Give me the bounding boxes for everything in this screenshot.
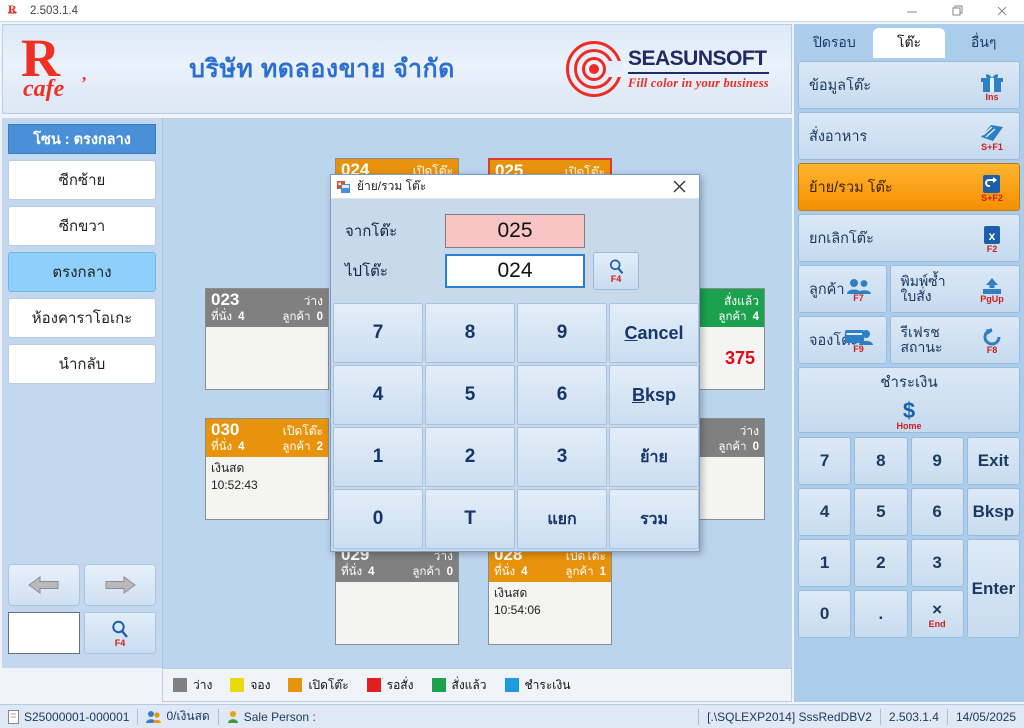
legend-label: เปิดโต๊ะ — [308, 676, 348, 695]
from-table-field: 025 — [445, 214, 585, 248]
keypad-key-label: 0 — [820, 604, 829, 624]
window-title: 2.503.1.4 — [30, 5, 78, 17]
reprint-order-button[interactable]: พิมพ์ซ้ำ ใบสั่ง PgUp — [890, 265, 1021, 313]
table-card-header: 030เปิดโต๊ะที่นั่ง4ลูกค้า2 — [206, 419, 328, 457]
dialog-key-label: ย้าย — [640, 445, 668, 470]
window-controls — [889, 0, 1024, 22]
keypad-key-9[interactable]: 9 — [911, 437, 964, 485]
refresh-label: รีเฟรช สถานะ — [901, 325, 943, 355]
reprint-label: พิมพ์ซ้ำ ใบสั่ง — [901, 274, 946, 304]
dialog-key-label: 7 — [373, 322, 384, 344]
company-name: บริษัท ทดลองขาย จำกัด — [78, 49, 566, 89]
customer-label: ลูกค้า — [282, 310, 310, 325]
legend-item: ว่าง — [173, 676, 212, 695]
dialog-key-label: Bksp — [632, 385, 676, 406]
zone-panel: โซน : ตรงกลาง ซีกซ้ายซีกขวาตรงกลางห้องคา… — [2, 118, 162, 668]
app-banner: R cafe ’ บริษัท ทดลองขาย จำกัด SEASUNSOF… — [2, 24, 792, 114]
reserve-icon: F9 — [840, 321, 878, 361]
sale-person-label: Sale Person : — [244, 710, 316, 724]
zone-item-label: ตรงกลาง — [52, 260, 111, 284]
customer-cell: 0/เงินสด — [138, 705, 217, 728]
tab-1[interactable]: โต๊ะ — [873, 28, 946, 58]
customer-label: ลูกค้า — [718, 440, 746, 455]
zone-search-row: F4 — [8, 612, 156, 654]
right-action-panel: ปิดรอบโต๊ะอื่นๆ ข้อมูลโต๊ะInsสั่งอาหารS+… — [794, 24, 1024, 702]
vendor-name: SEASUNSOFT — [628, 47, 769, 74]
table-number: 030 — [211, 420, 239, 439]
keypad-key-label: 6 — [932, 502, 941, 522]
keypad-key-3[interactable]: 3 — [911, 539, 964, 587]
legend-item: จอง — [230, 676, 270, 695]
table-open-time: 10:54:06 — [494, 602, 606, 619]
legend-item: ชำระเงิน — [505, 676, 571, 695]
customer-label: ลูกค้า — [412, 565, 440, 580]
keypad-key-label: 2 — [876, 553, 885, 573]
customer-count: 0 — [317, 310, 323, 325]
legend-label: จอง — [250, 676, 270, 695]
document-number-cell: S25000001-000001 — [0, 705, 137, 728]
legend-item: รอสั่ง — [367, 676, 414, 695]
dialog-key-label: รวม — [640, 507, 668, 532]
legend-label: รอสั่ง — [387, 676, 414, 695]
seat-count: 4 — [238, 440, 244, 455]
zone-item-label: นำกลับ — [59, 352, 105, 376]
reserve-table-button[interactable]: จองโต๊ะ F9 — [798, 316, 887, 364]
action-button-1[interactable]: สั่งอาหารS+F1 — [798, 112, 1020, 160]
from-table-row: จากโต๊ะ 025 — [345, 211, 685, 251]
order-food-icon: S+F1 — [973, 117, 1011, 157]
search-button[interactable]: F4 — [84, 612, 156, 654]
keypad-key-[interactable]: ×End — [911, 590, 964, 638]
keypad-key-label: Exit — [978, 451, 1009, 471]
vendor-logo: SEASUNSOFT Fill color in your business — [566, 41, 791, 97]
customer-label: ลูกค้า — [282, 440, 310, 455]
action-label: สั่งอาหาร — [809, 125, 867, 148]
keypad-key-label: 5 — [876, 502, 885, 522]
pay-shortcut: Home — [896, 422, 921, 431]
status-right: [.\SQLEXP2014] SssRedDBV2 2.503.1.4 14/0… — [698, 705, 1024, 728]
pay-button[interactable]: ชำระเงิน $ Home — [798, 367, 1020, 433]
dialog-close-icon[interactable] — [659, 175, 699, 199]
customers-small-icon — [146, 710, 161, 724]
tab-2[interactable]: อื่นๆ — [947, 28, 1020, 58]
keypad-key-6[interactable]: 6 — [911, 488, 964, 536]
move-merge-icon: S+F2 — [973, 168, 1011, 208]
form-icon — [337, 180, 351, 194]
action-shortcut: S+F1 — [981, 143, 1003, 152]
keypad-key-8[interactable]: 8 — [854, 437, 907, 485]
table-open-time: 10:52:43 — [211, 477, 323, 494]
numeric-keypad: 789Exit456Bksp123Enter0.×End — [798, 437, 1020, 638]
action-button-2[interactable]: ย้าย/รวม โต๊ะS+F2 — [798, 163, 1020, 211]
svg-text:x: x — [989, 229, 996, 243]
reserve-shortcut: F9 — [853, 345, 864, 354]
status-legend: ว่างจองเปิดโต๊ะรอสั่งสั่งแล้วชำระเงิน — [162, 668, 792, 702]
action-button-list: ข้อมูลโต๊ะInsสั่งอาหารS+F1ย้าย/รวม โต๊ะS… — [794, 61, 1024, 262]
customers-shortcut: F7 — [853, 294, 864, 303]
keypad-key-4[interactable]: 4 — [798, 488, 851, 536]
zone-item-1[interactable]: ซีกขวา — [8, 206, 156, 246]
seat-label: ที่นั่ง — [341, 565, 362, 580]
table-card[interactable]: 030เปิดโต๊ะที่นั่ง4ลูกค้า2เงินสด10:52:43 — [205, 418, 329, 520]
dialog-search-shortcut: F4 — [611, 275, 622, 284]
cancel-table-icon: xF2 — [973, 219, 1011, 259]
customer-count: 1 — [600, 565, 606, 580]
keypad-key-shortcut: End — [929, 620, 946, 629]
dialog-key-label: 1 — [373, 446, 384, 468]
logo-word: cafe — [23, 77, 64, 101]
customer-count: 4 — [753, 310, 759, 325]
dialog-key-label: แยก — [547, 507, 576, 532]
dialog-search-button[interactable]: F4 — [593, 252, 639, 290]
dialog-title: ย้าย/รวม โต๊ะ — [357, 177, 426, 196]
target-circles-icon — [566, 41, 622, 97]
customer-label: ลูกค้า — [565, 565, 593, 580]
customer-label: ลูกค้า — [718, 310, 746, 325]
document-icon — [8, 710, 19, 724]
customer-count: 0 — [447, 565, 453, 580]
zone-pager — [8, 564, 156, 606]
zone-item-label: ซีกซ้าย — [59, 168, 106, 192]
zone-header: โซน : ตรงกลาง — [8, 124, 156, 154]
table-card-body: เงินสด10:52:43 — [206, 457, 328, 497]
dialog-key-1[interactable]: 1 — [333, 427, 423, 487]
legend-item: สั่งแล้ว — [432, 676, 487, 695]
keypad-key-label: 4 — [820, 502, 829, 522]
legend-label: ว่าง — [193, 676, 212, 695]
table-card[interactable]: 029ว่างที่นั่ง4ลูกค้า0 — [335, 543, 459, 645]
table-state: ว่าง — [740, 423, 759, 440]
table-payment-type: เงินสด — [211, 460, 323, 477]
keypad-key-label: 1 — [820, 553, 829, 573]
table-card-header: 023ว่างที่นั่ง4ลูกค้า0 — [206, 289, 328, 327]
action-label: ยกเลิกโต๊ะ — [809, 227, 874, 250]
minimize-icon[interactable] — [889, 0, 934, 22]
legend-swatch — [367, 678, 381, 692]
dialog-key-T[interactable]: T — [425, 489, 515, 549]
rcafe-icon: Rcafe — [6, 4, 22, 18]
action-shortcut: S+F2 — [981, 194, 1003, 203]
table-card-body: เงินสด10:54:06 — [489, 582, 611, 622]
tab-bar: ปิดรอบโต๊ะอื่นๆ — [794, 24, 1024, 58]
dialog-key-label: T — [464, 508, 476, 530]
action-button-3[interactable]: ยกเลิกโต๊ะxF2 — [798, 214, 1020, 262]
zone-item-3[interactable]: ห้องคาราโอเกะ — [8, 298, 156, 338]
legend-label: ชำระเงิน — [525, 676, 571, 695]
customers-icon: F7 — [840, 270, 878, 310]
reprint-shortcut: PgUp — [980, 295, 1004, 304]
window-titlebar: Rcafe 2.503.1.4 — [0, 0, 1024, 22]
status-bar: S25000001-000001 0/เงินสด Sale Person : … — [0, 704, 1024, 728]
keypad-key-2[interactable]: 2 — [854, 539, 907, 587]
dialog-key-label: 6 — [557, 384, 568, 406]
dialog-key-4[interactable]: 4 — [333, 365, 423, 425]
dialog-titlebar: ย้าย/รวม โต๊ะ — [331, 175, 699, 199]
dialog-key-2[interactable]: 2 — [425, 427, 515, 487]
refresh-status-button[interactable]: รีเฟรช สถานะ F8 — [890, 316, 1021, 364]
dialog-key-0[interactable]: 0 — [333, 489, 423, 549]
dialog-key-label: 8 — [465, 322, 476, 344]
dialog-key-label: 3 — [557, 446, 568, 468]
dialog-keypad: 789Cancel456Bksp123ย้าย0Tแยกรวม — [333, 303, 699, 549]
keypad-key-[interactable]: . — [854, 590, 907, 638]
move-merge-dialog: ย้าย/รวม โต๊ะ จากโต๊ะ 025 ไปโต๊ะ 024 F4 … — [330, 174, 700, 552]
table-payment-type: เงินสด — [494, 585, 606, 602]
dialog-key-label: 0 — [373, 508, 384, 530]
seat-label: ที่นั่ง — [211, 310, 232, 325]
reprint-icon: PgUp — [973, 270, 1011, 310]
to-table-row: ไปโต๊ะ 024 F4 — [345, 251, 685, 291]
dollar-icon: $ — [903, 400, 915, 422]
to-table-field[interactable]: 024 — [445, 254, 585, 288]
action-row-1: ลูกค้า F7 พิมพ์ซ้ำ ใบสั่ง PgUp — [798, 265, 1020, 313]
person-icon — [227, 710, 239, 724]
server-info: [.\SQLEXP2014] SssRedDBV2 — [699, 705, 880, 728]
search-shortcut: F4 — [115, 639, 126, 648]
action-shortcut: Ins — [985, 93, 998, 102]
keypad-key-7[interactable]: 7 — [798, 437, 851, 485]
action-label: ข้อมูลโต๊ะ — [809, 74, 871, 97]
keypad-key-5[interactable]: 5 — [854, 488, 907, 536]
zone-item-2[interactable]: ตรงกลาง — [8, 252, 156, 292]
seat-count: 4 — [521, 565, 527, 580]
customer-count: 0 — [753, 440, 759, 455]
dialog-key-label: Cancel — [624, 323, 683, 344]
reprint-line1: พิมพ์ซ้ำ — [901, 273, 946, 289]
legend-swatch — [288, 678, 302, 692]
refresh-icon: F8 — [973, 321, 1011, 361]
customer-count: 2 — [317, 440, 323, 455]
keypad-key-label: . — [879, 604, 884, 624]
rcafe-logo: R cafe ’ — [3, 25, 118, 113]
table-card[interactable]: 023ว่างที่นั่ง4ลูกค้า0 — [205, 288, 329, 390]
zone-item-label: ห้องคาราโอเกะ — [32, 306, 133, 330]
action-row-2: จองโต๊ะ F9 รีเฟรช สถานะ F8 — [798, 316, 1020, 364]
table-state: ว่าง — [304, 293, 323, 310]
zone-item-4[interactable]: นำกลับ — [8, 344, 156, 384]
refresh-line1: รีเฟรช — [901, 324, 940, 340]
zone-list: ซีกซ้ายซีกขวาตรงกลางห้องคาราโอเกะนำกลับ — [2, 160, 162, 384]
table-card[interactable]: 028เปิดโต๊ะที่นั่ง4ลูกค้า1เงินสด10:54:06 — [488, 543, 612, 645]
dialog-key-9[interactable]: 9 — [517, 303, 607, 363]
refresh-line2: สถานะ — [901, 339, 943, 355]
legend-swatch — [230, 678, 244, 692]
document-number: S25000001-000001 — [24, 710, 129, 724]
customer-count: 0/เงินสด — [166, 707, 209, 726]
keypad-key-label: × — [932, 600, 942, 620]
dialog-key-5[interactable]: 5 — [425, 365, 515, 425]
keypad-key-label: Bksp — [973, 502, 1015, 522]
keypad-key-label: 3 — [932, 553, 941, 573]
keypad-key-label: Enter — [972, 579, 1015, 599]
dialog-key-15[interactable]: รวม — [609, 489, 699, 549]
pay-label: ชำระเงิน — [880, 370, 937, 394]
keypad-key-label: 7 — [820, 451, 829, 471]
keypad-key-1[interactable]: 1 — [798, 539, 851, 587]
action-shortcut: F2 — [987, 245, 998, 254]
app-window: Rcafe 2.503.1.4 R cafe ’ บริษัท ทดลองขาย… — [0, 0, 1024, 728]
dialog-key-Cancel[interactable]: Cancel — [609, 303, 699, 363]
seat-count: 4 — [238, 310, 244, 325]
action-label: ย้าย/รวม โต๊ะ — [809, 176, 893, 199]
maximize-icon[interactable] — [934, 0, 979, 22]
legend-swatch — [505, 678, 519, 692]
dialog-key-7[interactable]: 7 — [333, 303, 423, 363]
sale-person-cell: Sale Person : — [219, 705, 324, 728]
dialog-key-3[interactable]: 3 — [517, 427, 607, 487]
seat-label: ที่นั่ง — [211, 440, 232, 455]
keypad-key-Bksp[interactable]: Bksp — [967, 488, 1020, 536]
keypad-key-0[interactable]: 0 — [798, 590, 851, 638]
dialog-key-14[interactable]: แยก — [517, 489, 607, 549]
dialog-key-label: 5 — [465, 384, 476, 406]
date-info: 14/05/2025 — [948, 705, 1024, 728]
vendor-tagline: Fill color in your business — [628, 76, 769, 91]
zone-item-0[interactable]: ซีกซ้าย — [8, 160, 156, 200]
keypad-key-label: 8 — [876, 451, 885, 471]
to-table-label: ไปโต๊ะ — [345, 259, 445, 283]
gift-icon: Ins — [973, 66, 1011, 106]
action-button-0[interactable]: ข้อมูลโต๊ะIns — [798, 61, 1020, 109]
legend-swatch — [432, 678, 446, 692]
zone-item-label: ซีกขวา — [59, 214, 105, 238]
keypad-key-Enter[interactable]: Enter — [967, 539, 1020, 638]
legend-swatch — [173, 678, 187, 692]
arrow-left-icon[interactable] — [8, 564, 80, 606]
keypad-key-Exit[interactable]: Exit — [967, 437, 1020, 485]
dialog-key-label: 9 — [557, 322, 568, 344]
arrow-right-icon[interactable] — [84, 564, 156, 606]
seat-count: 4 — [368, 565, 374, 580]
dialog-key-8[interactable]: 8 — [425, 303, 515, 363]
dialog-key-6[interactable]: 6 — [517, 365, 607, 425]
table-card-body — [206, 327, 328, 333]
table-state: เปิดโต๊ะ — [283, 423, 323, 440]
dialog-key-11[interactable]: ย้าย — [609, 427, 699, 487]
dialog-body: จากโต๊ะ 025 ไปโต๊ะ 024 F4 — [331, 199, 699, 291]
refresh-shortcut: F8 — [987, 346, 998, 355]
legend-item: เปิดโต๊ะ — [288, 676, 348, 695]
dialog-key-label: 4 — [373, 384, 384, 406]
tab-0[interactable]: ปิดรอบ — [798, 28, 871, 58]
logo-apostrophe: ’ — [81, 73, 87, 94]
reprint-line2: ใบสั่ง — [901, 288, 932, 304]
keypad-key-label: 9 — [932, 451, 941, 471]
seat-label: ที่นั่ง — [494, 565, 515, 580]
search-input[interactable] — [8, 612, 80, 654]
version-info: 2.503.1.4 — [881, 705, 947, 728]
table-state: สั่งแล้ว — [724, 293, 759, 310]
legend-label: สั่งแล้ว — [452, 676, 487, 695]
table-number: 023 — [211, 290, 239, 309]
close-icon[interactable] — [979, 0, 1024, 22]
dialog-key-label: 2 — [465, 446, 476, 468]
from-table-label: จากโต๊ะ — [345, 219, 445, 243]
dialog-key-Bksp[interactable]: Bksp — [609, 365, 699, 425]
table-card-body — [336, 582, 458, 588]
customers-button[interactable]: ลูกค้า F7 — [798, 265, 887, 313]
